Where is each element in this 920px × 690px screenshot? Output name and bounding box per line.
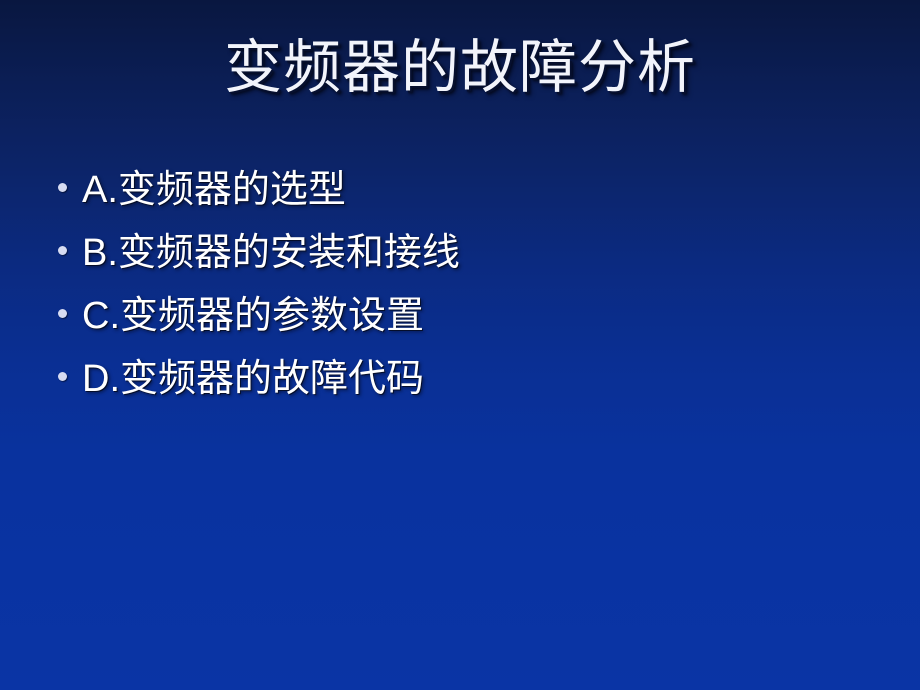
list-item-prefix: B. [82, 232, 118, 274]
list-item-text: D.变频器的故障代码 [82, 355, 882, 402]
list-item-prefix: C. [82, 295, 120, 337]
bullet-dot-icon [52, 292, 82, 318]
slide-title: 变频器的故障分析 [224, 34, 696, 101]
list-item-label: 变频器的参数设置 [120, 293, 424, 337]
list-item-label: 变频器的安装和接线 [118, 230, 460, 274]
list-item-prefix: A. [82, 169, 118, 211]
list-item-text: C.变频器的参数设置 [82, 292, 882, 339]
slide-body-placeholder: A.变频器的选型 B.变频器的安装和接线 C.变频器的参数设置 [52, 166, 882, 418]
list-item-label: 变频器的选型 [118, 167, 346, 211]
list-item[interactable]: D.变频器的故障代码 [52, 355, 882, 418]
slide-title-placeholder: 变频器的故障分析 [0, 34, 920, 101]
list-item-label: 变频器的故障代码 [120, 356, 424, 400]
list-item[interactable]: C.变频器的参数设置 [52, 292, 882, 355]
list-item-text: B.变频器的安装和接线 [82, 229, 882, 276]
list-item-prefix: D. [82, 358, 120, 400]
bullet-dot-icon [52, 166, 82, 192]
bullet-dot-icon [52, 229, 82, 255]
list-item-text: A.变频器的选型 [82, 166, 882, 213]
bullet-dot-icon [52, 355, 82, 381]
list-item[interactable]: B.变频器的安装和接线 [52, 229, 882, 292]
presentation-slide: 变频器的故障分析 A.变频器的选型 B.变频器的安装和接线 C.变频器的参 [0, 0, 920, 690]
list-item[interactable]: A.变频器的选型 [52, 166, 882, 229]
